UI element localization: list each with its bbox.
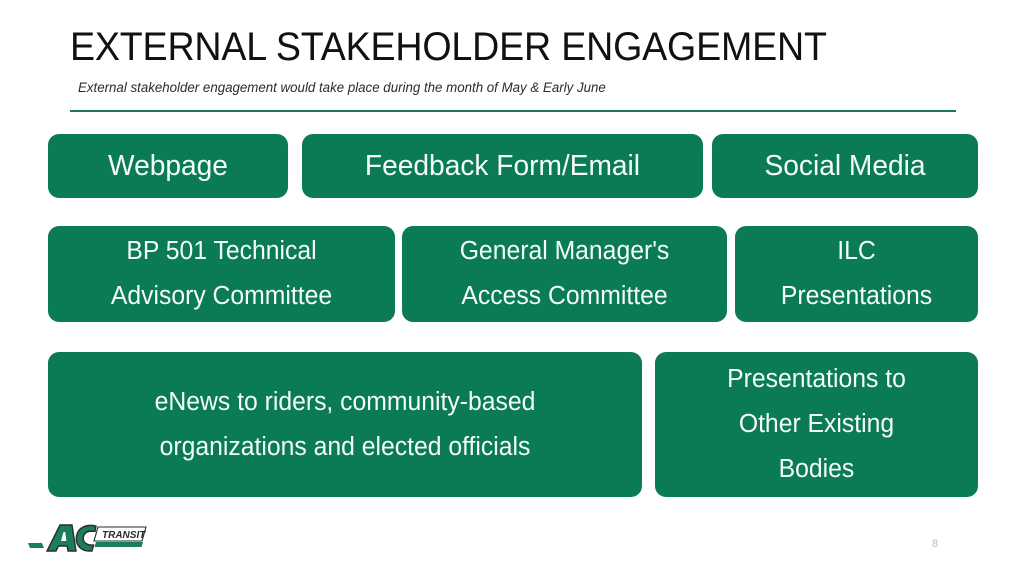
box-label-line-2: Access Committee xyxy=(461,282,667,310)
page-number: 8 xyxy=(915,538,955,550)
engagement-box-social-media[interactable]: Social Media xyxy=(712,134,978,198)
box-label: eNews to riders, community-based organiz… xyxy=(67,380,624,470)
page-title: EXTERNAL STAKEHOLDER ENGAGEMENT xyxy=(70,24,907,70)
box-label-line-1: eNews to riders, community-based xyxy=(155,388,536,416)
box-label-line-1: Presentations to xyxy=(727,365,906,393)
box-label-line-1: ILC xyxy=(837,237,875,265)
box-label-line-2: Other Existing xyxy=(739,410,894,438)
box-label-line-2: Advisory Committee xyxy=(111,282,332,310)
engagement-box-bp-501-technical-advisory-committee[interactable]: BP 501 Technical Advisory Committee xyxy=(48,226,395,322)
box-label-line-3: Bodies xyxy=(779,455,855,483)
slide-header: EXTERNAL STAKEHOLDER ENGAGEMENT External… xyxy=(70,24,960,97)
box-label-line-2: organizations and elected officials xyxy=(160,433,531,461)
box-label: Social Media xyxy=(726,149,965,183)
box-label: BP 501 Technical Advisory Committee xyxy=(63,229,380,319)
ac-transit-logo-icon: TRANSIT xyxy=(26,521,148,557)
box-label-line-1: General Manager's xyxy=(460,237,670,265)
box-label-line-2: Presentations xyxy=(781,282,932,310)
engagement-box-presentations-to-other-existing-bodies[interactable]: Presentations to Other Existing Bodies xyxy=(655,352,978,497)
slide-canvas: EXTERNAL STAKEHOLDER ENGAGEMENT External… xyxy=(0,0,1024,576)
box-label: ILC Presentations xyxy=(748,229,964,319)
engagement-box-enews-riders-organizations-officials[interactable]: eNews to riders, community-based organiz… xyxy=(48,352,642,497)
box-label-line-1: BP 501 Technical xyxy=(126,237,316,265)
box-label: Presentations to Other Existing Bodies xyxy=(670,357,964,492)
title-divider-rule xyxy=(70,110,956,112)
ac-transit-logo: TRANSIT xyxy=(26,521,148,557)
box-label: General Manager's Access Committee xyxy=(417,229,713,319)
page-subtitle: External stakeholder engagement would ta… xyxy=(78,79,947,97)
box-label: Webpage xyxy=(61,149,274,183)
box-label: Feedback Form/Email xyxy=(318,149,688,183)
engagement-box-ilc-presentations[interactable]: ILC Presentations xyxy=(735,226,978,322)
engagement-box-webpage[interactable]: Webpage xyxy=(48,134,288,198)
ac-transit-wordmark: TRANSIT xyxy=(102,530,146,541)
engagement-box-general-managers-access-committee[interactable]: General Manager's Access Committee xyxy=(402,226,727,322)
engagement-box-feedback-form-email[interactable]: Feedback Form/Email xyxy=(302,134,703,198)
